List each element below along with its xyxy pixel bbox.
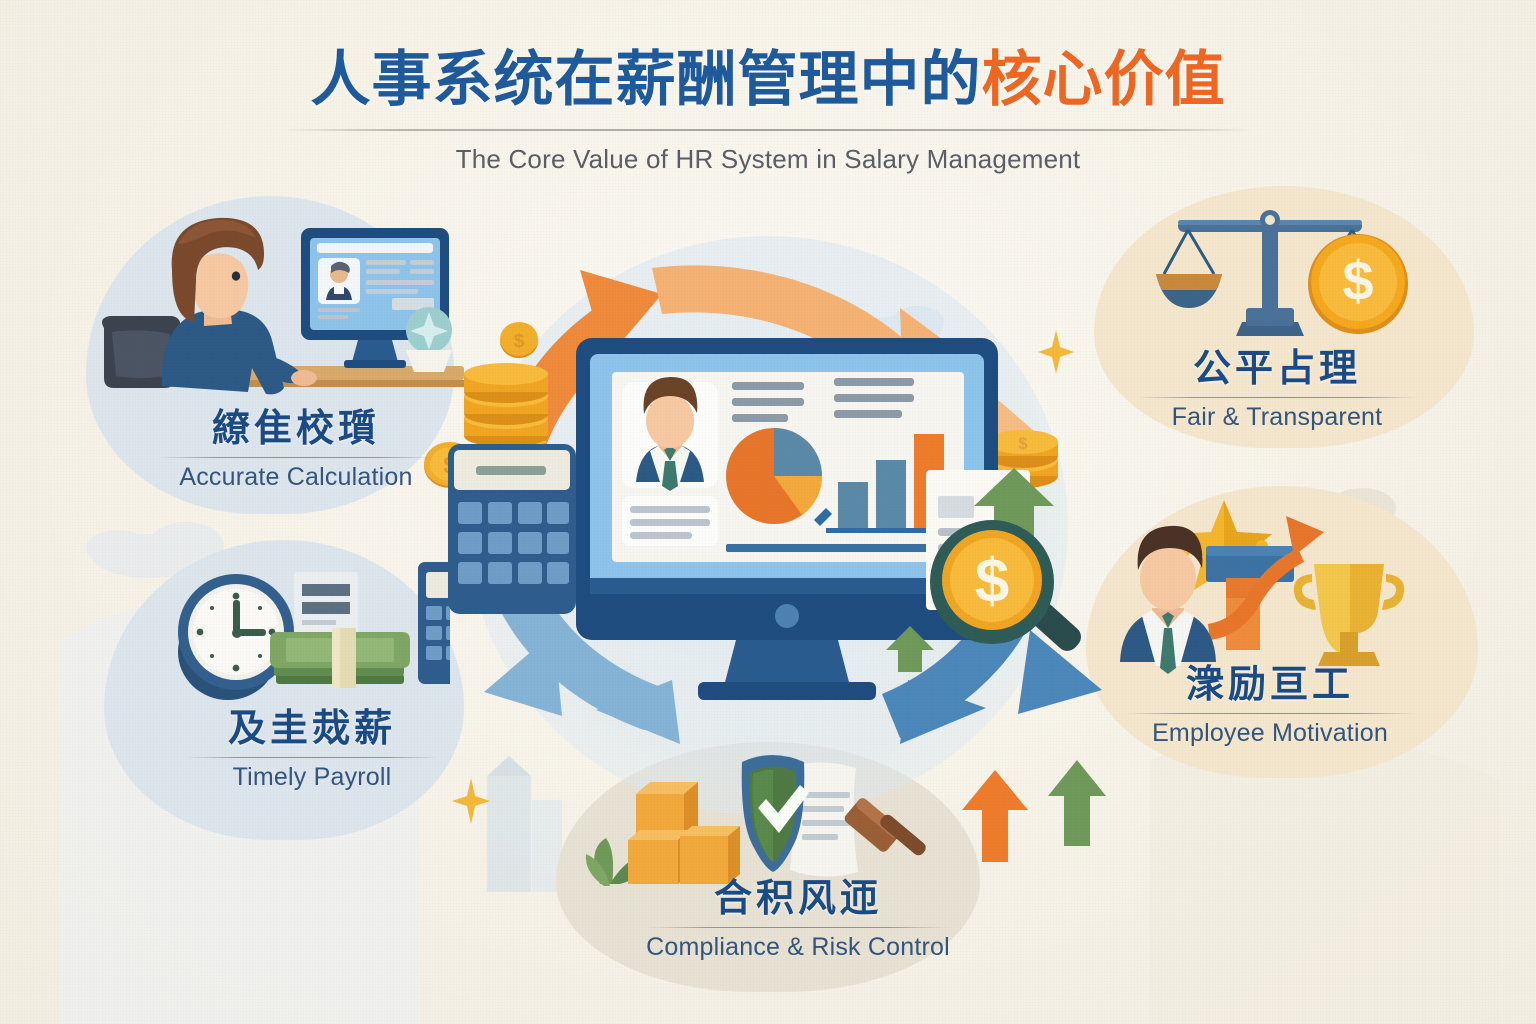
boxes-icon — [628, 782, 740, 884]
pillar-label-accurate[interactable]: 繚隹校瓆 Accurate Calculation — [128, 408, 464, 492]
green-up-arrow-icon — [1046, 760, 1108, 846]
info-lines — [622, 496, 718, 546]
trophy-icon — [1294, 564, 1404, 666]
scene-hr-dashboard: $ $ — [430, 320, 1090, 720]
gavel-icon — [843, 796, 929, 858]
orange-up-arrow-icon — [960, 770, 1030, 862]
pillar-label-accurate-cn: 繚隹校瓆 — [128, 408, 464, 451]
page-title: 人事系统在薪酬管理中的核心价值 The Core Value of HR Sys… — [0, 48, 1536, 175]
label-divider — [1136, 397, 1418, 398]
title-chinese-main: 人事系统在薪酬管理中的 — [311, 46, 982, 113]
title-chinese-accent: 核心价值 — [982, 46, 1226, 113]
gold-coin-icon: $ — [1308, 234, 1408, 334]
infographic-canvas: 人事系统在薪酬管理中的核心价值 The Core Value of HR Sys… — [0, 0, 1536, 1024]
woman-figure-icon — [162, 218, 317, 395]
calculator-icon — [448, 363, 576, 614]
scene-employee-motivation — [1108, 494, 1428, 674]
title-subtitle-english: The Core Value of HR System in Salary Ma… — [0, 144, 1536, 175]
coin-stack-icon — [464, 363, 548, 447]
employee-avatar-icon — [622, 377, 718, 491]
pie-chart-icon — [726, 428, 822, 524]
label-divider — [1124, 713, 1416, 714]
pillar-label-fair-en: Fair & Transparent — [1104, 403, 1450, 432]
label-divider — [648, 927, 948, 928]
cash-stack-icon — [270, 628, 410, 688]
pillar-label-compliance-en: Compliance & Risk Control — [614, 933, 982, 962]
pillar-label-fair[interactable]: 公平占理 Fair & Transparent — [1104, 348, 1450, 432]
pillar-label-compliance[interactable]: 合积风迊 Compliance & Risk Control — [614, 878, 982, 962]
pillar-label-timely[interactable]: 及圭烖薪 Timely Payroll — [158, 708, 466, 792]
pillar-label-compliance-cn: 合积风迊 — [614, 878, 982, 921]
pillar-label-timely-en: Timely Payroll — [158, 763, 466, 792]
pillar-label-motivation[interactable]: 潨励亘工 Employee Motivation — [1094, 664, 1446, 748]
pillar-label-timely-cn: 及圭烖薪 — [158, 708, 466, 751]
scene-accurate-calculation — [96, 200, 476, 420]
scene-timely-payroll — [150, 548, 450, 723]
scene-fair-transparent: $ — [1128, 196, 1428, 356]
svg-text:$: $ — [1342, 249, 1373, 312]
title-chinese: 人事系统在薪酬管理中的核心价值 — [0, 48, 1536, 113]
title-divider — [283, 129, 1253, 131]
scene-compliance-risk — [584, 744, 954, 894]
label-divider — [186, 757, 438, 758]
pillar-label-accurate-en: Accurate Calculation — [128, 463, 464, 492]
label-divider — [158, 457, 434, 458]
svg-text:$: $ — [975, 547, 1009, 616]
pillar-label-motivation-cn: 潨励亘工 — [1094, 664, 1446, 707]
pillar-label-fair-cn: 公平占理 — [1104, 348, 1450, 391]
pillar-label-motivation-en: Employee Motivation — [1094, 719, 1446, 748]
